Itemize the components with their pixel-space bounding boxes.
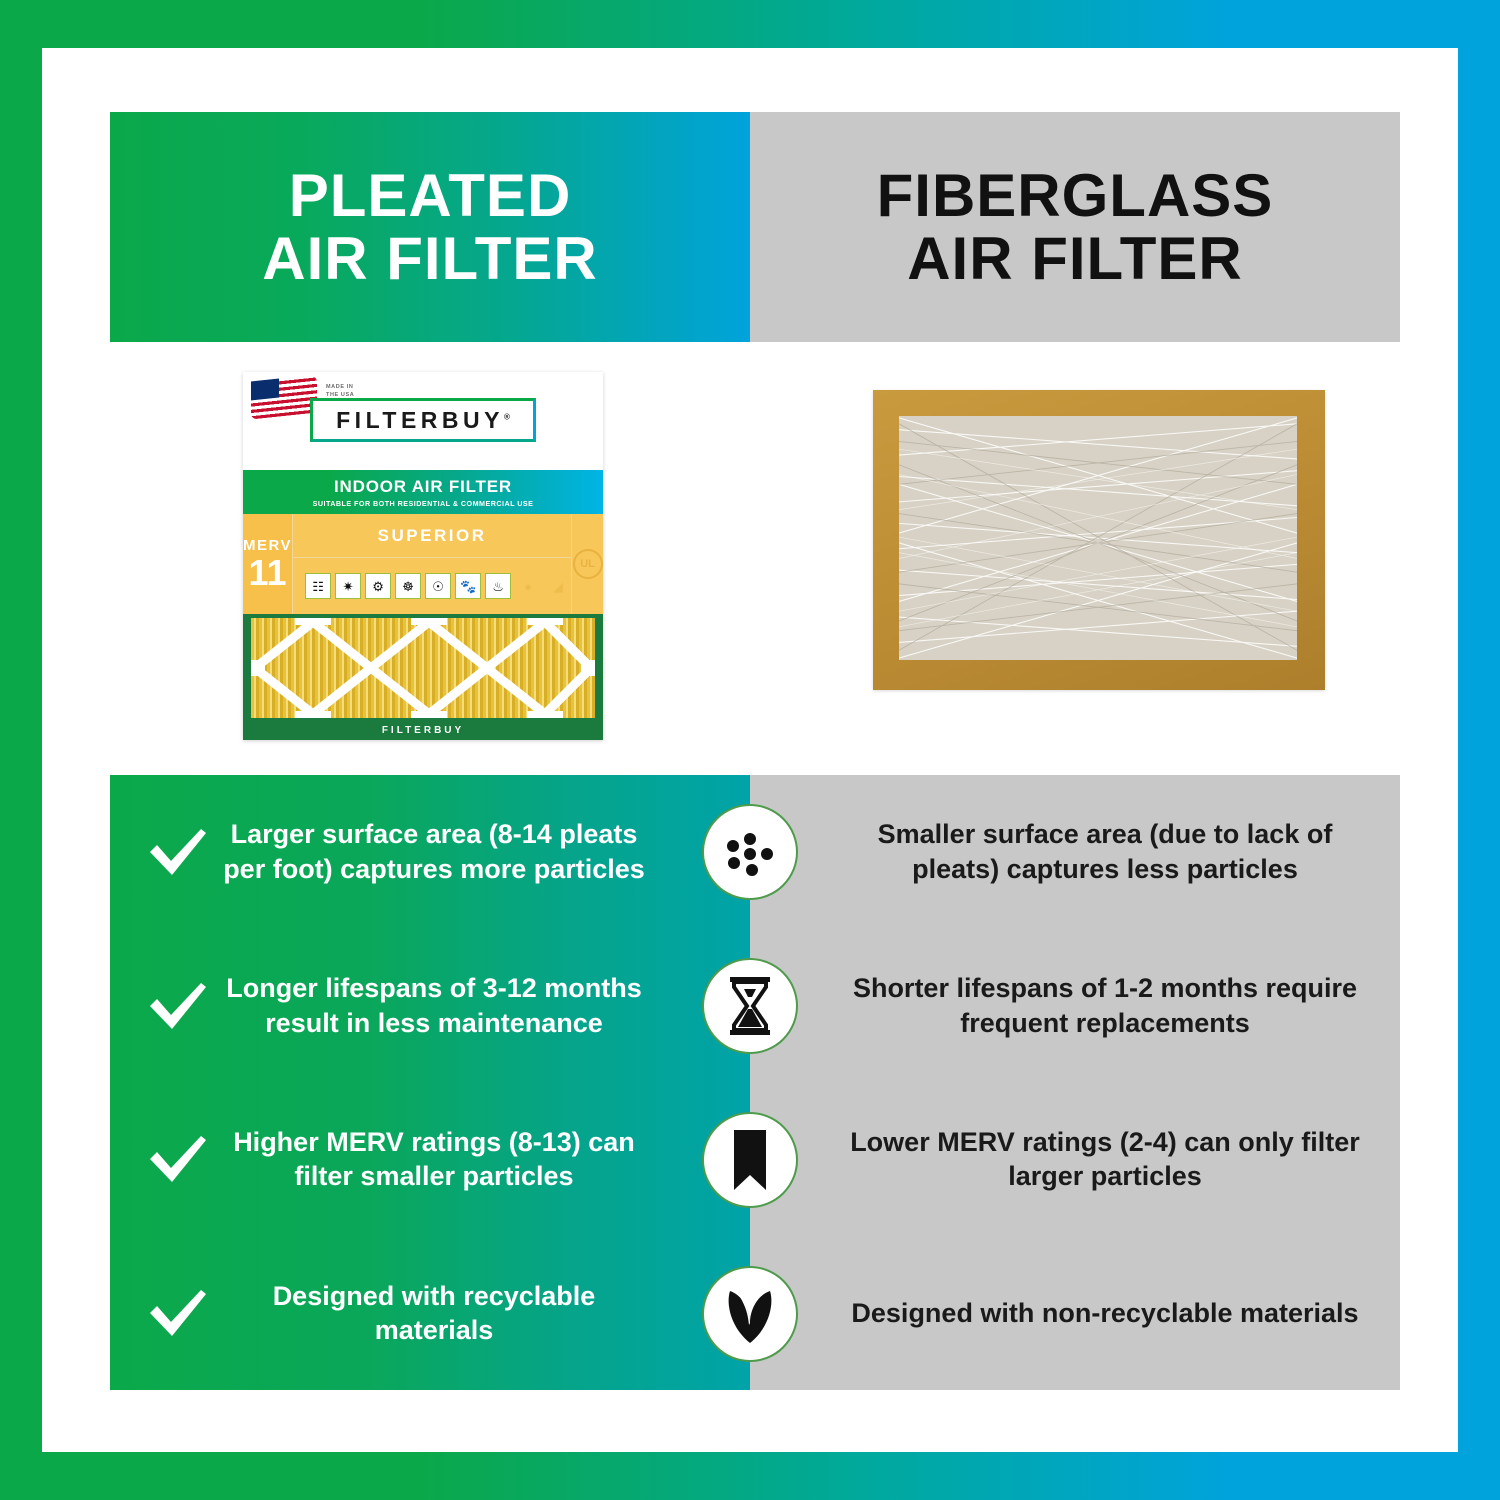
box-merv-row: MERV 11 SUPERIOR ☷ ✷ ⚙ ☸ ☉ 🐾 ♨ ● ◢ [243,514,603,614]
merv-value: 11 [249,555,287,591]
ul-certification-icon: UL [573,549,603,579]
lint-icon-faded: ● [515,573,541,599]
header-fiberglass-line1: FIBERGLASS [877,164,1274,227]
band-sub-text: SUITABLE FOR BOTH RESIDENTIAL & COMMERCI… [313,499,534,508]
mold-spores-icon: ⚙ [365,573,391,599]
check-icon [142,1133,214,1185]
white-diamond-lattice [251,618,595,718]
comparison-panel: Larger surface area (8-14 pleats per foo… [110,775,1400,1390]
smoke-icon: ♨ [485,573,511,599]
comparison-row: Designed with recyclable materials [110,1236,750,1390]
check-icon [142,1287,214,1339]
header-pleated-line2: AIR FILTER [262,227,598,290]
bacteria-icon: ☸ [395,573,421,599]
merv-badge: MERV 11 [243,514,293,614]
feature-icon-strip: ☷ ✷ ⚙ ☸ ☉ 🐾 ♨ ● ◢ [293,558,571,614]
header-fiberglass-title: FIBERGLASS AIR FILTER [877,164,1274,290]
box-pleated-media-window: FILTERBUY [243,614,603,740]
header-pleated-title: PLEATED AIR FILTER [262,164,598,290]
header-pleated: PLEATED AIR FILTER [110,112,750,342]
pet-dander-icon: 🐾 [455,573,481,599]
box-footer-brand: FILTERBUY [243,725,603,736]
row-right-text: Designed with non-recyclable materials [850,1296,1360,1331]
merv-middle: SUPERIOR ☷ ✷ ⚙ ☸ ☉ 🐾 ♨ ● ◢ [293,514,571,614]
made-in-line1: MADE IN [326,383,354,391]
row-right-text: Smaller surface area (due to lack of ple… [850,817,1360,886]
certification-area: UL [571,514,603,614]
pollen-icon: ✷ [335,573,361,599]
comparison-row: Designed with non-recyclable materials [750,1236,1400,1390]
filterbuy-logo-text: FILTERBUY® [336,407,510,434]
header-pleated-line1: PLEATED [262,164,598,227]
row-left-text: Designed with recyclable materials [214,1279,654,1348]
header-row: PLEATED AIR FILTER FIBERGLASS AIR FILTER [110,112,1400,342]
filterbuy-logo: FILTERBUY® [310,398,536,442]
box-indoor-air-filter-band: INDOOR AIR FILTER SUITABLE FOR BOTH RESI… [243,470,603,514]
header-fiberglass: FIBERGLASS AIR FILTER [750,112,1400,342]
tier-label: SUPERIOR [293,514,571,558]
comparison-row: Larger surface area (8-14 pleats per foo… [110,775,750,929]
check-icon [142,826,214,878]
comparison-row: Smaller surface area (due to lack of ple… [750,775,1400,929]
header-fiberglass-line2: AIR FILTER [877,227,1274,290]
allergen-icon-faded: ◢ [545,573,571,599]
band-main-text: INDOOR AIR FILTER [334,477,512,497]
fiberglass-mesh [899,416,1297,660]
comparison-left-column: Larger surface area (8-14 pleats per foo… [110,775,750,1390]
product-images-row: MADE IN THE USA FILTERBUY® INDOOR AIR FI… [110,342,1400,775]
row-left-text: Longer lifespans of 3-12 months result i… [214,971,654,1040]
fiberglass-filter-image [873,390,1325,690]
virus-icon: ☉ [425,573,451,599]
comparison-right-column: Smaller surface area (due to lack of ple… [750,775,1400,1390]
usa-flag-icon [251,375,317,420]
row-right-text: Lower MERV ratings (2-4) can only filter… [850,1125,1360,1194]
pleated-filter-box-image: MADE IN THE USA FILTERBUY® INDOOR AIR FI… [243,372,603,740]
check-icon [142,980,214,1032]
box-top-section: MADE IN THE USA FILTERBUY® [243,372,603,470]
comparison-row: Lower MERV ratings (2-4) can only filter… [750,1083,1400,1237]
comparison-row: Shorter lifespans of 1-2 months require … [750,929,1400,1083]
comparison-row: Longer lifespans of 3-12 months result i… [110,929,750,1083]
comparison-row: Higher MERV ratings (8-13) can filter sm… [110,1083,750,1237]
dust-icon: ☷ [305,573,331,599]
fiberglass-fibers [899,416,1297,660]
row-right-text: Shorter lifespans of 1-2 months require … [850,971,1360,1040]
row-left-text: Higher MERV ratings (8-13) can filter sm… [214,1125,654,1194]
row-left-text: Larger surface area (8-14 pleats per foo… [214,817,654,886]
infographic-page: PLEATED AIR FILTER FIBERGLASS AIR FILTER… [0,0,1500,1500]
